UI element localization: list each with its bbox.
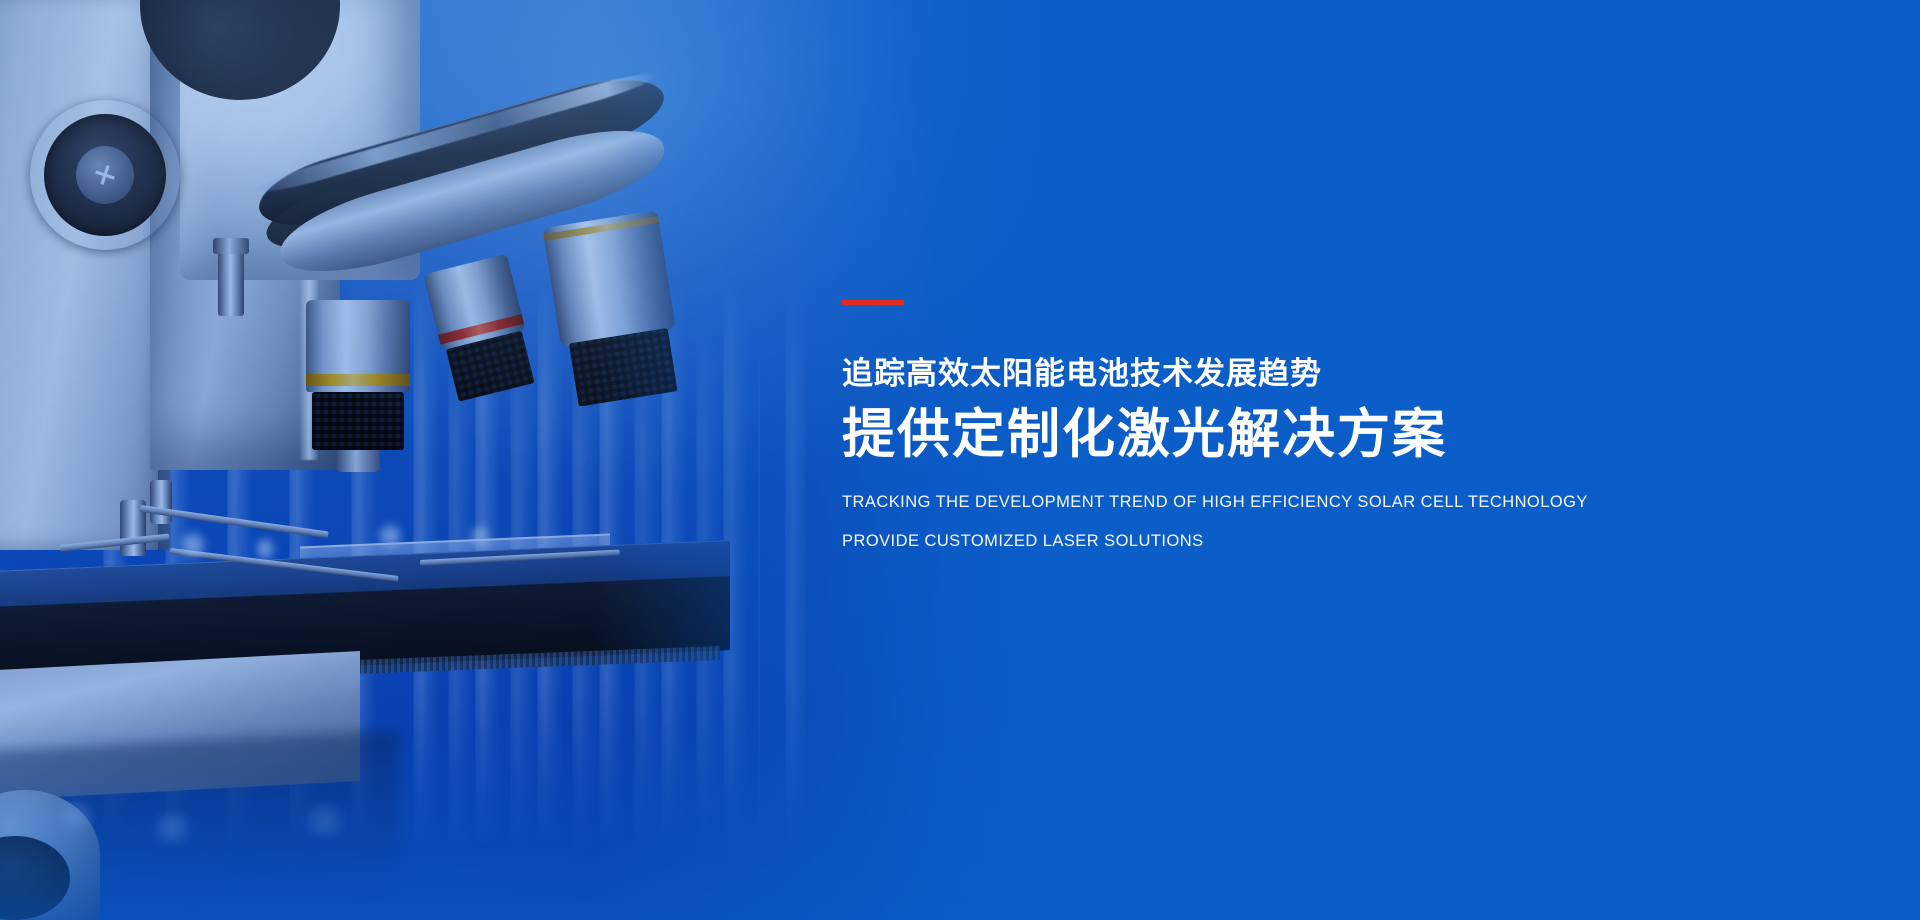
accent-rule — [842, 300, 904, 305]
photo-bottom-fade — [0, 720, 1060, 920]
headline-sub: 追踪高效太阳能电池技术发展趋势 — [842, 357, 1802, 391]
hero-banner: 追踪高效太阳能电池技术发展趋势 提供定制化激光解决方案 TRACKING THE… — [0, 0, 1920, 920]
hero-copy: 追踪高效太阳能电池技术发展趋势 提供定制化激光解决方案 TRACKING THE… — [842, 300, 1802, 549]
subtitle-en-line-1: TRACKING THE DEVELOPMENT TREND OF HIGH E… — [842, 494, 1802, 511]
headline-main: 提供定制化激光解决方案 — [842, 405, 1802, 464]
subtitle-en-line-2: PROVIDE CUSTOMIZED LASER SOLUTIONS — [842, 533, 1802, 550]
